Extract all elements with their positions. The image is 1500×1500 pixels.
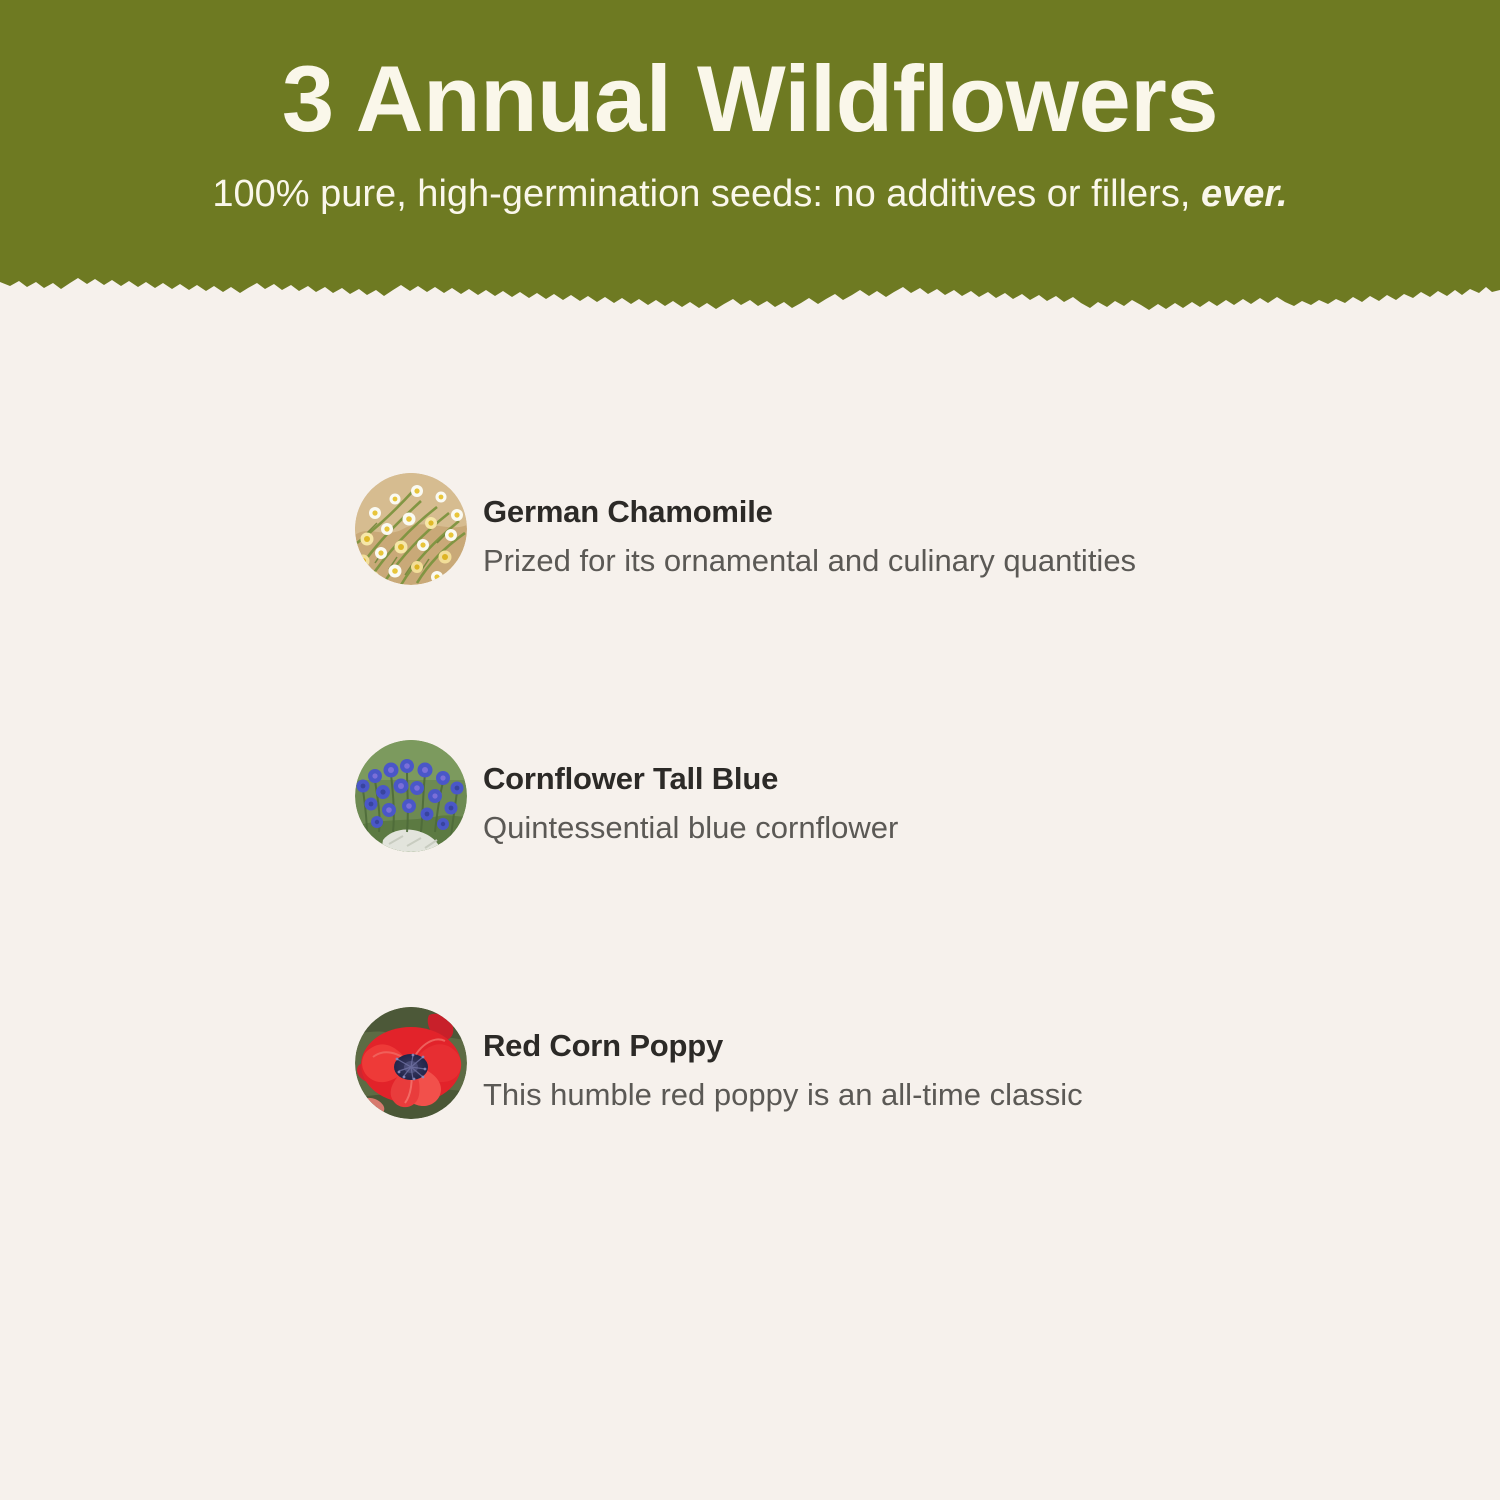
- header-banner: 3 Annual Wildflowers 100% pure, high-ger…: [0, 0, 1500, 312]
- banner-content: 3 Annual Wildflowers 100% pure, high-ger…: [0, 0, 1500, 290]
- list-item: German Chamomile Prized for its ornament…: [355, 473, 1355, 585]
- banner-subtitle-emphasis: ever.: [1201, 173, 1288, 215]
- item-description: This humble red poppy is an all-time cla…: [483, 1066, 1083, 1115]
- german-chamomile-photo: [355, 473, 467, 585]
- wildflower-list: German Chamomile Prized for its ornament…: [355, 473, 1355, 1119]
- banner-subtitle: 100% pure, high-germination seeds: no ad…: [212, 146, 1287, 218]
- item-title: Cornflower Tall Blue: [483, 760, 898, 799]
- item-text-block: German Chamomile Prized for its ornament…: [467, 473, 1136, 581]
- item-title: Red Corn Poppy: [483, 1027, 1083, 1066]
- item-text-block: Cornflower Tall Blue Quintessential blue…: [467, 740, 898, 848]
- chamomile-illustration: [355, 473, 467, 585]
- cornflower-illustration: [355, 740, 467, 852]
- list-item: Red Corn Poppy This humble red poppy is …: [355, 1007, 1355, 1119]
- cornflower-tall-blue-photo: [355, 740, 467, 852]
- list-item: Cornflower Tall Blue Quintessential blue…: [355, 740, 1355, 852]
- item-description: Prized for its ornamental and culinary q…: [483, 532, 1136, 581]
- page-title: 3 Annual Wildflowers: [282, 52, 1218, 146]
- item-text-block: Red Corn Poppy This humble red poppy is …: [467, 1007, 1083, 1115]
- banner-subtitle-lead: 100% pure, high-germination seeds: no ad…: [212, 173, 1201, 215]
- poppy-illustration: [355, 1007, 467, 1119]
- red-corn-poppy-photo: [355, 1007, 467, 1119]
- item-description: Quintessential blue cornflower: [483, 799, 898, 848]
- item-title: German Chamomile: [483, 493, 1136, 532]
